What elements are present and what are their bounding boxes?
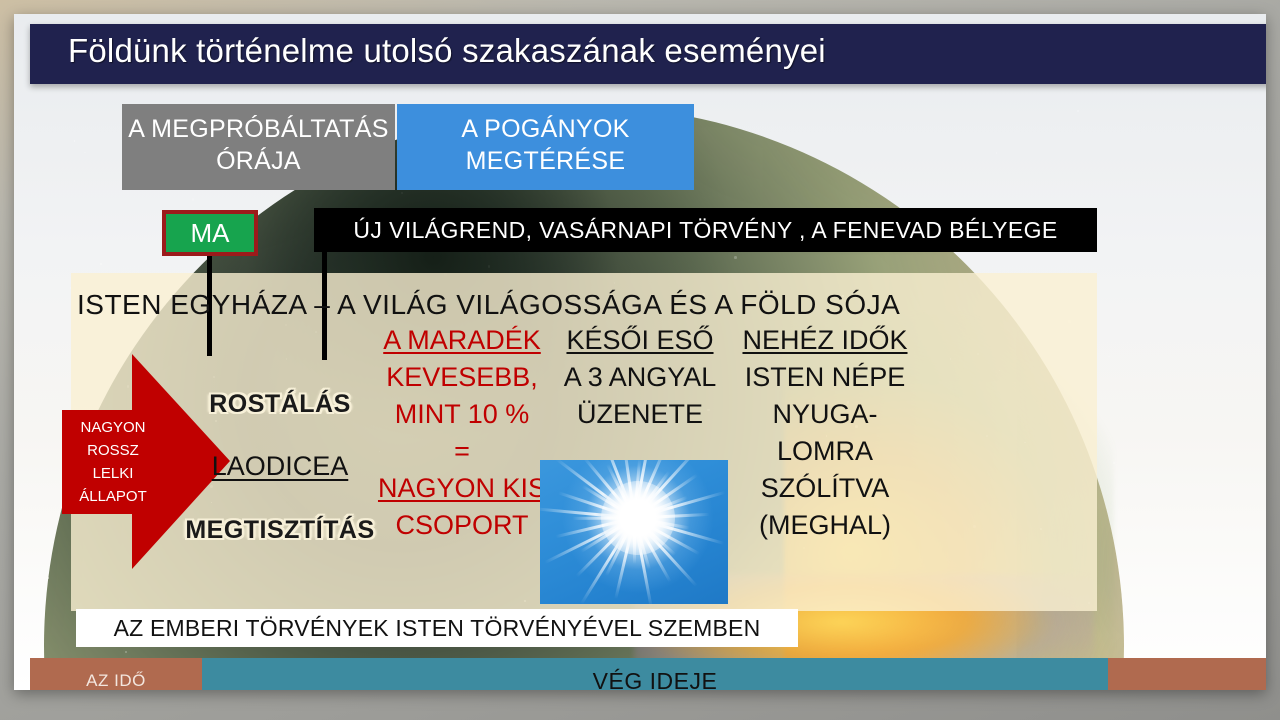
column-latter-rain: KÉSŐI ESŐ A 3 ANGYAL ÜZENETE — [550, 322, 730, 433]
new-world-order-banner: ÚJ VILÁGREND, VASÁRNAPI TÖRVÉNY , A FENE… — [314, 208, 1097, 252]
box-gentiles-line1: A POGÁNYOK — [397, 113, 694, 145]
arrow-label: NAGYON ROSSZ LELKI ÁLLAPOT — [70, 416, 156, 508]
timeline-segment-time-label: AZ IDŐ — [30, 671, 202, 690]
label-sifting: ROSTÁLÁS — [200, 390, 360, 419]
column-remnant-line2: MINT 10 % — [372, 396, 552, 433]
label-purification: MEGTISZTÍTÁS — [180, 516, 380, 545]
column-remnant-line3: = — [372, 433, 552, 470]
globe-speck — [996, 152, 997, 153]
label-laodicea: LAODICEA — [200, 451, 360, 482]
box-gentiles-line2: MEGTÉRÉSE — [397, 145, 694, 177]
panel-heading: ISTEN EGYHÁZA – A VILÁG VILÁGOSSÁGA ÉS A… — [77, 289, 900, 321]
column-latter-rain-line1: A 3 ANGYAL — [550, 359, 730, 396]
arrow-label-line1: NAGYON — [70, 416, 156, 439]
box-hour-of-trial-line2: ÓRÁJA — [122, 145, 395, 177]
column-hard-times-line3: LOMRA — [730, 433, 920, 470]
column-hard-times-line2: NYUGA- — [730, 396, 920, 433]
timeline-segment-end-times[interactable]: VÉG IDEJE — [202, 658, 1108, 690]
sun-burst-image — [540, 460, 728, 604]
box-hour-of-trial-line1: A MEGPRÓBÁLTATÁS — [122, 113, 395, 145]
column-remnant-line5: CSOPORT — [372, 507, 552, 544]
human-laws-bar: AZ EMBERI TÖRVÉNYEK ISTEN TÖRVÉNYÉVEL SZ… — [76, 609, 798, 647]
timeline-segment-end-times-label: VÉG IDEJE — [202, 668, 1108, 690]
timeline-bar: AZ IDŐ VÉG IDEJE — [30, 658, 1266, 690]
column-remnant-heading: A MARADÉK — [372, 322, 552, 359]
slide: A MEGPRÓBÁLTATÁS ÓRÁJA A POGÁNYOK MEGTÉR… — [0, 0, 1280, 720]
column-remnant: A MARADÉK KEVESEBB, MINT 10 % = NAGYON K… — [372, 322, 552, 544]
column-latter-rain-line2: ÜZENETE — [550, 396, 730, 433]
box-conversion-of-gentiles[interactable]: A POGÁNYOK MEGTÉRÉSE — [397, 104, 694, 190]
globe-speck — [84, 152, 85, 153]
human-laws-bar-text: AZ EMBERI TÖRVÉNYEK ISTEN TÖRVÉNYÉVEL SZ… — [114, 615, 761, 641]
slide-title-bar: Földünk történelme utolsó szakaszának es… — [30, 24, 1266, 84]
column-latter-rain-heading: KÉSŐI ESŐ — [550, 322, 730, 359]
column-hard-times-line5: (MEGHAL) — [730, 507, 920, 544]
banner-text: ÚJ VILÁGREND, VASÁRNAPI TÖRVÉNY , A FENE… — [353, 217, 1057, 243]
timeline-segment-after[interactable] — [1108, 658, 1266, 690]
slide-frame: A MEGPRÓBÁLTATÁS ÓRÁJA A POGÁNYOK MEGTÉR… — [14, 14, 1266, 690]
box-hour-of-trial[interactable]: A MEGPRÓBÁLTATÁS ÓRÁJA — [122, 104, 395, 190]
column-remnant-line4: NAGYON KIS — [372, 470, 552, 507]
column-hard-times-line4: SZÓLÍTVA — [730, 470, 920, 507]
column-hard-times-heading: NEHÉZ IDŐK — [730, 322, 920, 359]
arrow-label-line3: LELKI — [70, 462, 156, 485]
globe-speck — [1077, 110, 1079, 112]
column-hard-times-line1: ISTEN NÉPE — [730, 359, 920, 396]
arrow-label-line2: ROSSZ — [70, 439, 156, 462]
page-title: Földünk történelme utolsó szakaszának es… — [68, 32, 826, 70]
column-hard-times: NEHÉZ IDŐK ISTEN NÉPE NYUGA- LOMRA SZÓLÍ… — [730, 322, 920, 544]
arrow-label-line4: ÁLLAPOT — [70, 485, 156, 508]
today-marker-box[interactable]: MA — [162, 210, 258, 256]
today-marker-label: MA — [191, 218, 230, 248]
timeline-segment-time[interactable]: AZ IDŐ — [30, 658, 202, 690]
column-remnant-line1: KEVESEBB, — [372, 359, 552, 396]
